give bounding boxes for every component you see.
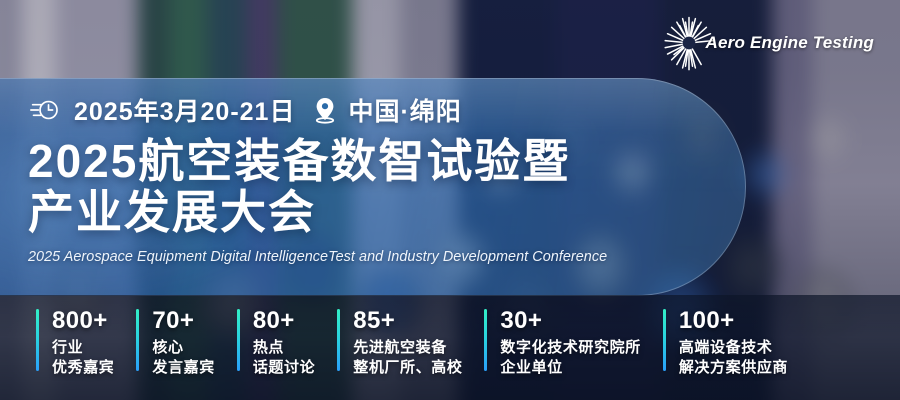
stat-accent-rule — [237, 309, 240, 371]
stat-item: 85+ 先进航空装备 整机厂所、高校 — [315, 309, 462, 378]
stat-accent-rule — [484, 309, 487, 371]
stat-label-line-1: 数字化技术研究院所 — [500, 338, 640, 358]
stat-item: 30+ 数字化技术研究院所 企业单位 — [462, 309, 640, 378]
headline-line-2: 产业发展大会 — [28, 187, 708, 238]
map-pin-icon — [313, 96, 337, 124]
stat-number: 80+ — [253, 309, 315, 333]
stat-accent-rule — [337, 309, 340, 371]
stat-label-line-1: 热点 — [253, 338, 315, 358]
stat-label-line-1: 核心 — [152, 338, 214, 358]
stat-item: 100+ 高端设备技术 解决方案供应商 — [641, 309, 788, 378]
stat-accent-rule — [136, 309, 139, 371]
stat-label-line-2: 话题讨论 — [253, 358, 315, 378]
event-meta-row: 2025年3月20-21日 中国·绵阳 — [30, 92, 462, 128]
conference-banner: Aero Engine Testing 2025年3月20-21日 中国·绵阳 … — [0, 0, 900, 400]
stat-number: 30+ — [500, 309, 640, 333]
stat-label-line-1: 高端设备技术 — [679, 338, 788, 358]
stat-label-line-1: 行业 — [52, 338, 114, 358]
headline-subtitle-en: 2025 Aerospace Equipment Digital Intelli… — [28, 249, 708, 265]
stat-label-line-2: 优秀嘉宾 — [52, 358, 114, 378]
stat-accent-rule — [663, 309, 666, 371]
event-location: 中国·绵阳 — [348, 92, 461, 128]
stat-item: 800+ 行业 优秀嘉宾 — [0, 309, 114, 378]
speed-clock-icon — [30, 96, 60, 124]
stat-item: 80+ 热点 话题讨论 — [215, 309, 315, 378]
stat-number: 100+ — [679, 309, 788, 333]
headline-block: 2025航空装备数智试验暨 产业发展大会 2025 Aerospace Equi… — [28, 136, 708, 265]
brand-logo[interactable]: Aero Engine Testing — [660, 14, 874, 72]
stat-item: 70+ 核心 发言嘉宾 — [114, 309, 214, 378]
stat-label-line-1: 先进航空装备 — [353, 338, 462, 358]
stat-label-line-2: 整机厂所、高校 — [353, 358, 462, 378]
stat-label-line-2: 发言嘉宾 — [152, 358, 214, 378]
stat-label-line-2: 企业单位 — [500, 358, 640, 378]
logo-wordmark: Aero Engine Testing — [706, 33, 874, 53]
stat-number: 800+ — [52, 309, 114, 333]
stats-bar: 800+ 行业 优秀嘉宾 70+ 核心 发言嘉宾 80+ 热点 话题讨论 — [0, 295, 900, 400]
event-date: 2025年3月20-21日 — [74, 92, 295, 128]
headline-line-1: 2025航空装备数智试验暨 — [28, 136, 708, 187]
stat-number: 70+ — [152, 309, 214, 333]
stat-accent-rule — [36, 309, 39, 371]
stat-label-line-2: 解决方案供应商 — [679, 358, 788, 378]
stat-number: 85+ — [353, 309, 462, 333]
